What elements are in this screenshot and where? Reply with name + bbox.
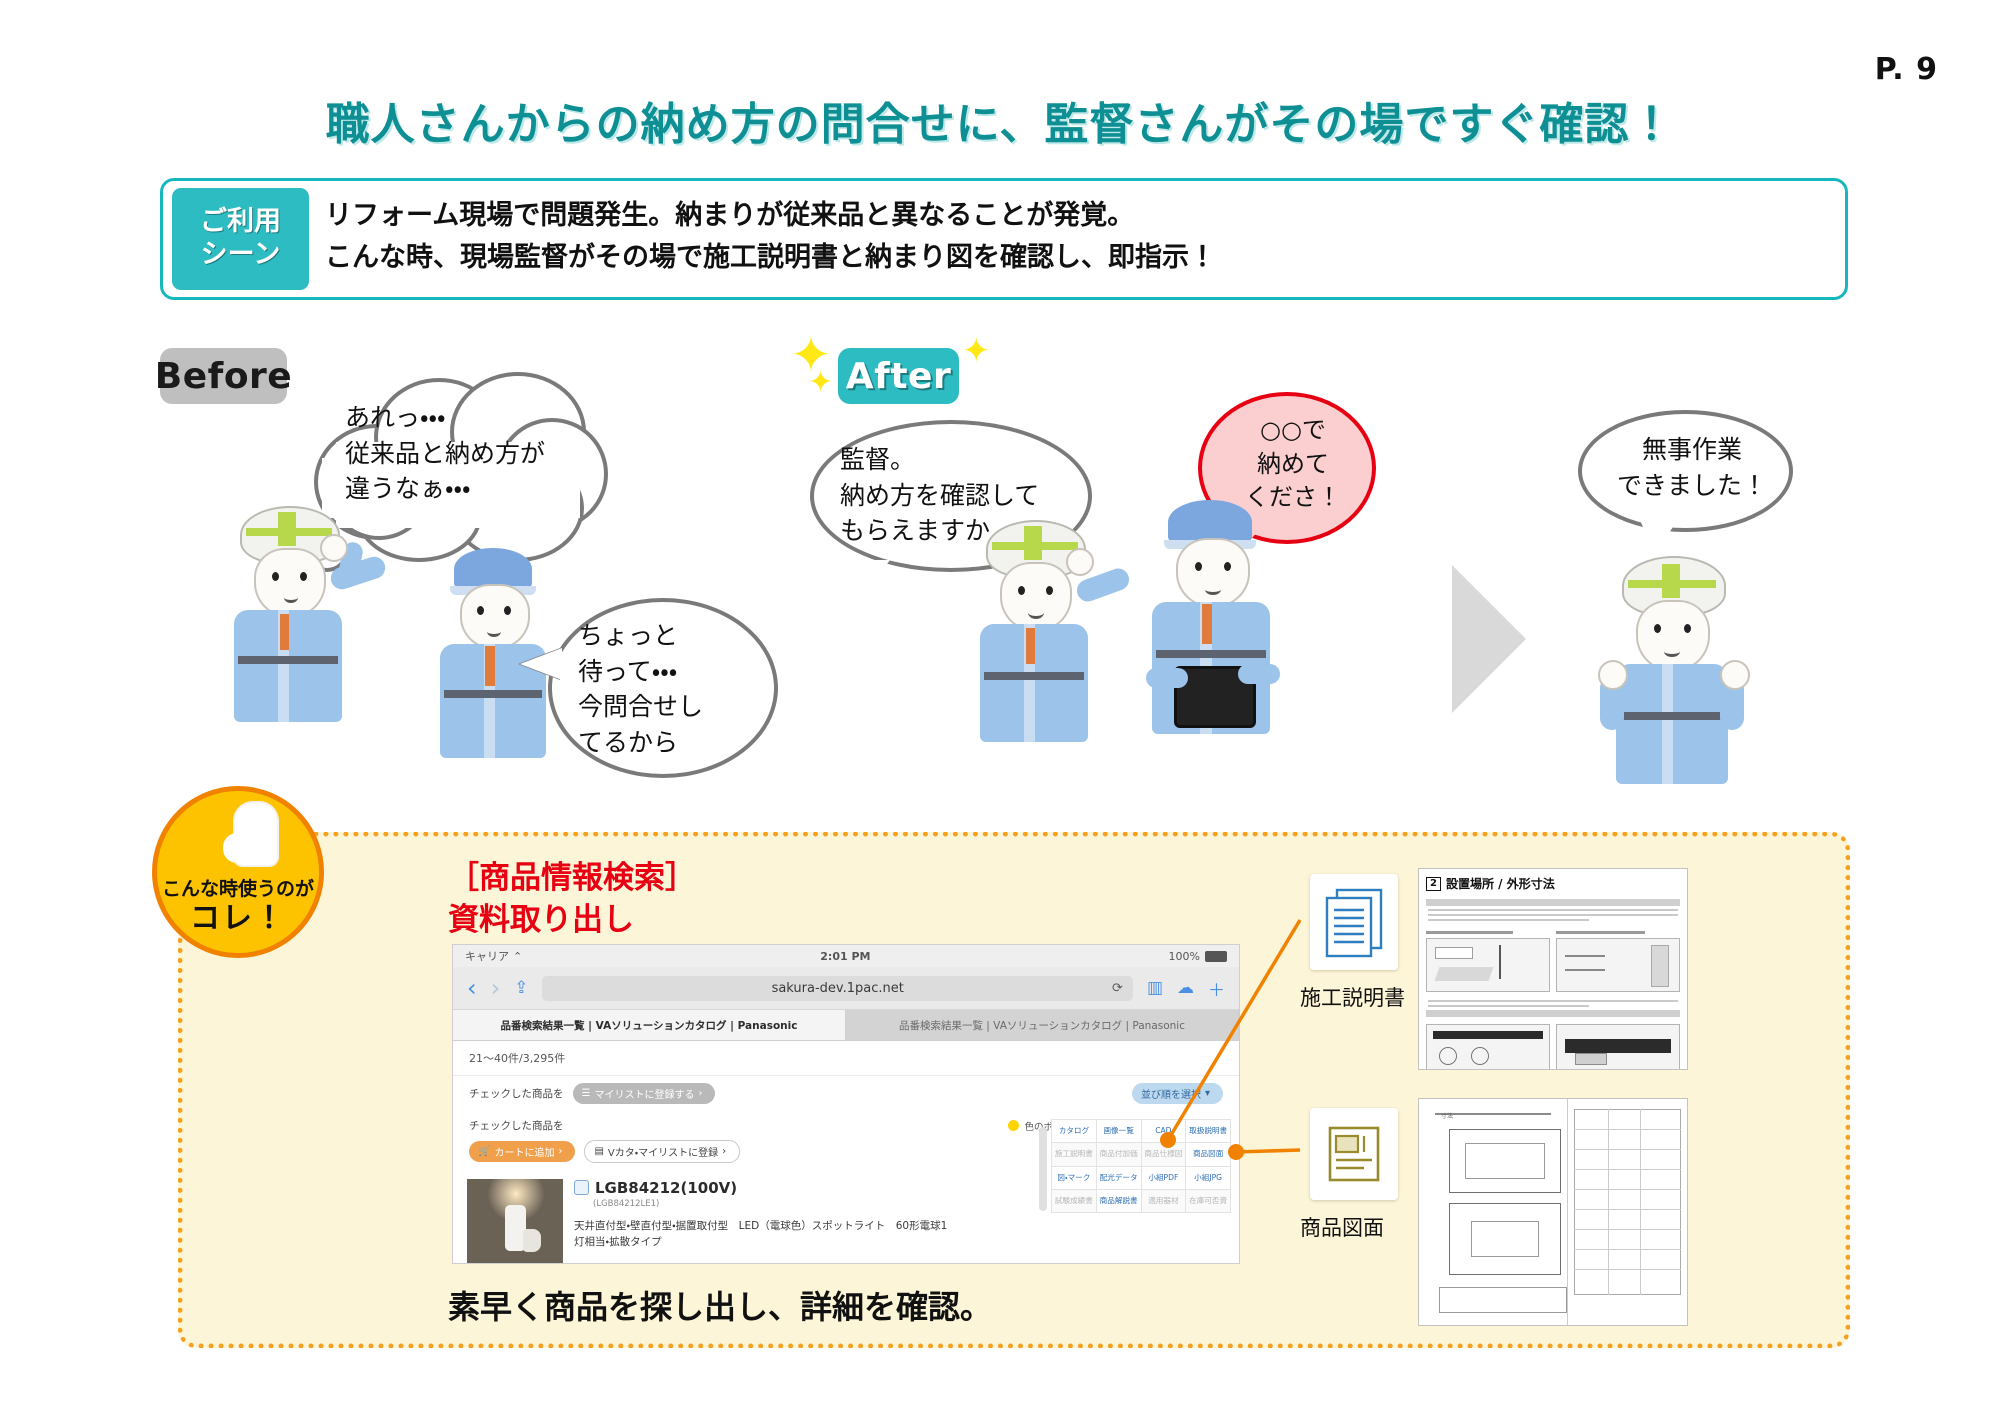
- back-chevron-icon[interactable]: ‹: [467, 976, 477, 1000]
- document-preview-install: 2 設置場所 / 外形寸法: [1418, 868, 1688, 1070]
- product-description: 天井直付型・壁直付型・据置取付型 LED（電球色）スポットライト 60形電球1 …: [574, 1218, 1225, 1251]
- callout-line1: こんな時使うのが: [162, 879, 314, 900]
- pointing-hand-icon: [235, 803, 277, 865]
- product-price-label: 15,800円: [574, 1258, 657, 1264]
- browser-tab-bar: 品番検索結果一覧 | VAソリューションカタログ | Panasonic 品番検…: [453, 1010, 1239, 1041]
- list-scrollbar[interactable]: [1039, 1127, 1047, 1211]
- document-preview-drawing: 寸法: [1418, 1098, 1688, 1326]
- vkata-register-button[interactable]: ▤ Vカタ・マイリストに登録 ›: [584, 1140, 740, 1163]
- progress-arrow-icon: [1452, 565, 1526, 713]
- doc-button-guide[interactable]: 商品解説書: [1097, 1190, 1141, 1212]
- usage-scene-tag-line2: シーン: [201, 239, 281, 272]
- worker-figure-confused: [216, 506, 396, 724]
- action-label-2: チェックした商品を: [469, 1118, 564, 1133]
- feature-heading: ［商品情報検索］ 資料取り出し: [448, 858, 968, 942]
- document-label-install: 施工説明書: [1300, 982, 1405, 1012]
- preview-section-number: 2: [1426, 877, 1441, 891]
- chevron-right-icon: ›: [698, 1088, 702, 1099]
- doc-button-spec[interactable]: 商品仕様図: [1142, 1143, 1186, 1165]
- forward-chevron-icon[interactable]: ›: [491, 976, 501, 1000]
- ipad-screenshot: キャリア ⌃ 2:01 PM 100% ‹ › ⇪ sakura-dev.1pa…: [452, 944, 1240, 1264]
- feature-caption: 素早く商品を探し出し、詳細を確認。: [448, 1282, 1348, 1328]
- cart-icon: 🛒: [478, 1146, 490, 1157]
- yellow-dot-icon: [1008, 1120, 1019, 1131]
- preview-title-row: 2 設置場所 / 外形寸法: [1419, 869, 1687, 896]
- clock-label: 2:01 PM: [522, 950, 1168, 963]
- doc-button-images[interactable]: 画像一覧: [1097, 1120, 1141, 1142]
- speech-bubble-done-text: 無事作業 できました！: [1602, 432, 1782, 503]
- worker-figure-asking: [962, 520, 1142, 746]
- browser-tab-label: 品番検索結果一覧 | VAソリューションカタログ | Panasonic: [899, 1018, 1185, 1033]
- url-bar[interactable]: sakura-dev.1pac.net ⟳: [542, 976, 1132, 1001]
- before-chip: Before: [160, 348, 287, 404]
- mylist-register-button[interactable]: ☰ マイリストに登録する ›: [573, 1083, 716, 1104]
- usage-scene-tag: ご利用 シーン: [172, 188, 309, 290]
- sparkle-icon: ✦: [962, 334, 991, 368]
- foreman-figure-tablet: [1140, 500, 1320, 750]
- doc-button-testreport[interactable]: 試験成績書: [1052, 1190, 1096, 1212]
- carrier-label: キャリア: [465, 948, 509, 964]
- document-pages-icon: [1323, 886, 1385, 958]
- usage-scene-text: リフォーム現場で問題発生。納まりが従来品と異なることが発覚。 こんな時、現場監督…: [325, 195, 1805, 279]
- chevron-right-icon: ›: [558, 1146, 562, 1157]
- result-count-label: 21～40件/3,295件: [453, 1041, 1239, 1076]
- catalog-page: 21～40件/3,295件 チェックした商品を ☰ マイリストに登録する › 並…: [453, 1041, 1239, 1264]
- doc-button-stock[interactable]: 在庫可否資: [1186, 1190, 1230, 1212]
- page-number: P. 9: [1875, 52, 1938, 87]
- doc-button-manual[interactable]: 取扱説明書: [1186, 1120, 1230, 1142]
- callout-badge: こんな時使うのが コレ！: [152, 786, 324, 958]
- share-icon[interactable]: ⇪: [514, 978, 528, 998]
- sort-select-label: 並び順を選択: [1141, 1086, 1201, 1101]
- doc-button-install[interactable]: 施工説明書: [1052, 1143, 1096, 1165]
- product-code-label: LGB84212(100V): [595, 1179, 737, 1197]
- chevron-down-icon: ▾: [1205, 1088, 1210, 1099]
- url-text: sakura-dev.1pac.net: [772, 981, 904, 996]
- mylist-register-label: マイリストに登録する: [594, 1086, 694, 1101]
- speech-bubble-wait-tail: [520, 648, 562, 680]
- doc-button-pdf[interactable]: 小組PDF: [1142, 1167, 1186, 1189]
- chevron-right-icon: ›: [722, 1146, 726, 1157]
- cloud-icon[interactable]: ☁: [1177, 978, 1194, 998]
- browser-tab-active[interactable]: 品番検索結果一覧 | VAソリューションカタログ | Panasonic: [453, 1010, 846, 1040]
- add-to-cart-button[interactable]: 🛒 カートに追加 ›: [469, 1141, 575, 1162]
- speech-bubble-wait-text: ちょっと 待って・・・ 今問合せし てるから: [578, 618, 763, 760]
- doc-button-drawing[interactable]: 商品図面: [1186, 1143, 1230, 1165]
- speech-bubble-done-tail: [1640, 520, 1678, 554]
- usage-scene-tag-line1: ご利用: [200, 206, 281, 239]
- product-thumbnail: [467, 1179, 563, 1264]
- battery-percent-label: 100%: [1169, 950, 1200, 963]
- after-chip: After: [838, 348, 959, 404]
- safari-toolbar: ‹ › ⇪ sakura-dev.1pac.net ⟳ ▥ ☁ ＋: [453, 967, 1239, 1010]
- list-icon: ☰: [582, 1088, 591, 1099]
- ios-status-bar: キャリア ⌃ 2:01 PM 100%: [453, 945, 1239, 967]
- list-icon: ▤: [594, 1146, 603, 1157]
- browser-tab-inactive[interactable]: 品番検索結果一覧 | VAソリューションカタログ | Panasonic: [846, 1010, 1239, 1040]
- doc-button-marks[interactable]: 図・マーク: [1052, 1167, 1096, 1189]
- doc-button-parts[interactable]: 適用器材: [1142, 1190, 1186, 1212]
- doc-button-cad[interactable]: CAD: [1142, 1120, 1186, 1142]
- document-label-drawing: 商品図面: [1300, 1212, 1384, 1242]
- callout-line2: コレ！: [190, 900, 286, 938]
- wifi-icon: ⌃: [513, 950, 522, 963]
- worker-figure-done: [1592, 556, 1782, 788]
- drawing-icon-box: [1310, 1108, 1398, 1200]
- doc-button-photometry[interactable]: 配光データ: [1097, 1167, 1141, 1189]
- thought-bubble-worker-text: あれっ・・・ 従来品と納め方が 違うなぁ・・・: [345, 400, 595, 507]
- plus-icon[interactable]: ＋: [1208, 976, 1225, 1001]
- action-label-1: チェックした商品を: [469, 1086, 564, 1101]
- doc-button-addvalue[interactable]: 商品付加価: [1097, 1143, 1141, 1165]
- document-stack-icon: [1310, 874, 1398, 970]
- page-title: 職人さんからの納め方の問合せに、監督さんがその場ですぐ確認！: [0, 88, 2000, 152]
- vkata-register-label: Vカタ・マイリストに登録: [608, 1144, 718, 1159]
- reload-icon[interactable]: ⟳: [1112, 981, 1123, 996]
- preview-section-title: 設置場所 / 外形寸法: [1446, 875, 1555, 892]
- product-price-row: 15,800円 (税別) 2014年4月 発売: [574, 1258, 1225, 1264]
- product-checkbox[interactable]: [574, 1180, 589, 1195]
- action-row-top: チェックした商品を ☰ マイリストに登録する › 並び順を選択 ▾: [453, 1076, 1239, 1111]
- browser-tab-label: 品番検索結果一覧 | VAソリューションカタログ | Panasonic: [501, 1018, 798, 1033]
- battery-icon: [1205, 951, 1227, 962]
- speech-bubble-ask-tail: [850, 560, 890, 596]
- book-icon[interactable]: ▥: [1147, 978, 1163, 998]
- add-to-cart-label: カートに追加: [494, 1144, 554, 1159]
- sparkle-icon: ✦: [808, 368, 833, 398]
- doc-button-jpg[interactable]: 小組JPG: [1186, 1167, 1230, 1189]
- blueprint-icon: [1324, 1122, 1384, 1186]
- document-button-grid: カタログ 画像一覧 CAD 取扱説明書 施工説明書 商品付加価 商品仕様図 商品…: [1051, 1119, 1231, 1213]
- sort-select-button-top[interactable]: 並び順を選択 ▾: [1132, 1083, 1223, 1104]
- doc-button-catalog[interactable]: カタログ: [1052, 1120, 1096, 1142]
